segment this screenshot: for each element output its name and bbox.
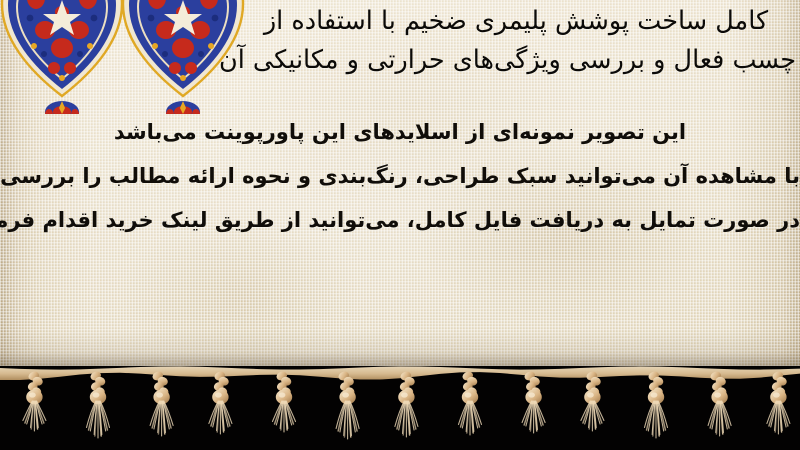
title-line-2: چسب فعال و بررسی ویژگی‌های حرارتی و مکان… bbox=[236, 41, 796, 80]
slide-body-text: این تصویر نمونه‌ای از اسلایدهای این پاور… bbox=[0, 110, 800, 242]
body-line-2: با مشاهده آن می‌توانید سبک طراحی، رنگ‌بن… bbox=[0, 154, 800, 198]
carpet-fringe-band bbox=[0, 366, 800, 450]
slide-title: کامل ساخت پوشش پلیمری ضخیم با استفاده از… bbox=[236, 2, 796, 80]
body-line-3: در صورت تمایل به دریافت فایل کامل، می‌تو… bbox=[0, 198, 800, 242]
body-line-1: این تصویر نمونه‌ای از اسلایدهای این پاور… bbox=[0, 110, 800, 154]
title-line-1: کامل ساخت پوشش پلیمری ضخیم با استفاده از bbox=[236, 2, 796, 41]
medallion-left-group bbox=[2, 0, 122, 114]
slide-canvas: کامل ساخت پوشش پلیمری ضخیم با استفاده از… bbox=[0, 0, 800, 450]
